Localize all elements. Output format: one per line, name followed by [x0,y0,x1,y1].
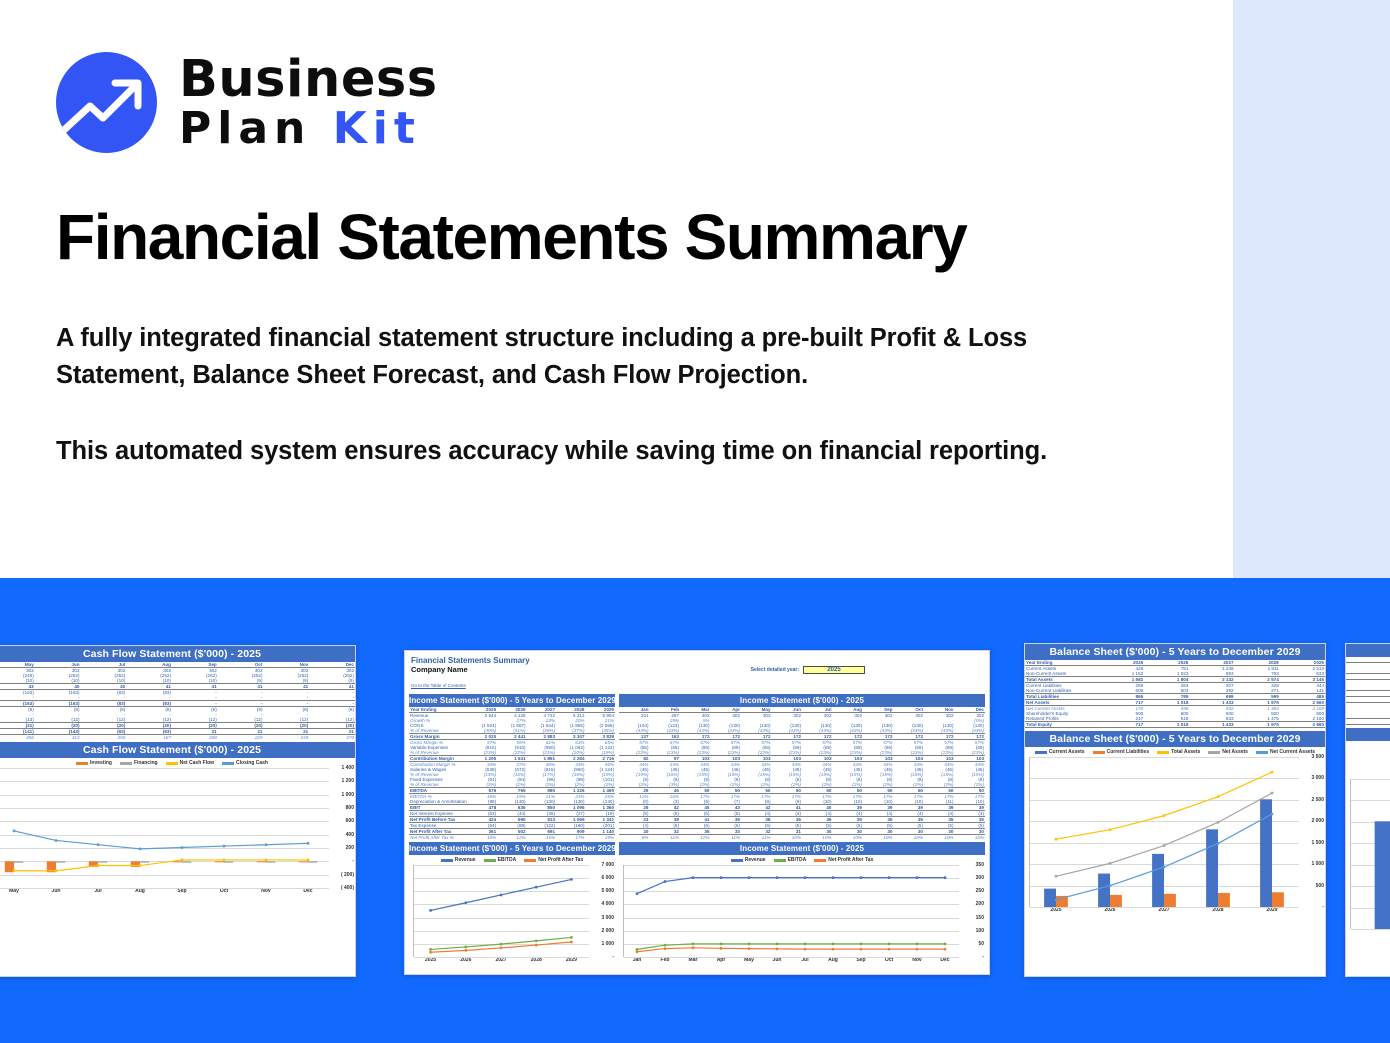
legend-label: Current Liabilities [1107,749,1150,755]
legend-item: Net Cash Flow [166,760,214,766]
legend-label: Total Assets [1171,749,1200,755]
balance-sheet-table-title: Balance Sheet ($'000) - 5 Years to Decem… [1025,644,1325,660]
y-tick-label: - [982,954,984,960]
legend-label: Current Assets [1049,749,1085,755]
chart-arrow-logo-icon [56,52,157,153]
y-tick-label: 3 000 [601,915,614,921]
y-tick-label: 3 500 [1311,754,1324,760]
table-row: Net Profit After Tax %10%12%15%17%19% [409,835,615,841]
y-tick-label: ( 200) [341,872,354,878]
table-cell: 249 [264,735,310,741]
brand-word-kit: Kit [333,103,421,154]
legend-label: Net Assets [1222,749,1248,755]
table-cell: 10% [802,835,833,841]
table-cell: 10% [955,835,986,841]
chart-series-layer [623,865,959,957]
table-cell: 10% [894,835,925,841]
legend-label: Net Profit After Tax [828,857,873,863]
legend-swatch [1157,751,1169,754]
y-tick-label: 250 [976,888,984,894]
balance-sheet-table[interactable]: Year Ending20252026202720282029Current A… [1025,660,1325,728]
chart-legend: RevenueEBITDANet Profit After Tax [619,855,985,865]
y-tick-label: 1 000 [601,941,614,947]
chart-plot-area: 3 5003 0002 5002 0001 5001 000500- [1346,779,1390,929]
balance-sheet-monthly-panel[interactable]: Jan1 1741241 297936927865121 08150012512… [1345,643,1390,977]
chart-series-layer [1350,779,1390,929]
legend-label: EBITDA [788,857,807,863]
table-row: 512 [1346,719,1390,725]
y-tick-label: - [1322,904,1324,910]
legend-item: Net Assets [1208,749,1248,755]
legend-item: Closing Cash [222,760,268,766]
balance-sheet-monthly-chart[interactable]: Current AssetsCurrent LiabilitiesTotal A… [1346,741,1390,935]
legend-label: EBITDA [498,857,517,863]
table-cell: 10% [863,835,894,841]
table-cell: 12% [680,835,711,841]
income-monthly-chart[interactable]: RevenueEBITDANet Profit After Tax3503002… [619,855,985,963]
legend-item: EBITDA [774,857,807,863]
table-cell: 717 [1099,722,1144,728]
y-tick-label: 3 000 [1311,775,1324,781]
income-statement-panel[interactable]: Financial Statements Summary Company Nam… [404,650,990,975]
income-panel-title: Financial Statements Summary [411,656,530,665]
y-tick-label: - [612,954,614,960]
hero-paragraph-1: A fully integrated financial statement s… [56,320,1141,394]
y-tick-label: 200 [976,901,984,907]
chart-y-axis: 1 4001 2001 000800600400200-( 200)( 400) [329,768,355,888]
legend-label: Net Current Assets [1270,749,1315,755]
table-row: 456313250187208229249270 [0,735,355,741]
income-monthly-chart-title: Income Statement ($'000) - 2025 [619,842,985,855]
table-cell: 456 [0,735,35,741]
legend-item: EBITDA [484,857,517,863]
y-tick-label: 5 000 [601,888,614,894]
row-label: Total Equity [1025,722,1099,728]
legend-label: Financing [134,760,158,766]
table-cell: 1 018 [1144,722,1189,728]
income-annual-table[interactable]: Year Ending20252026202720282029Revenue3 … [409,707,615,840]
table-cell: 10% [833,835,864,841]
legend-label: Investing [90,760,112,766]
balance-sheet-panel[interactable]: Balance Sheet ($'000) - 5 Years to Decem… [1024,643,1326,977]
chart-series-layer [413,865,589,957]
y-tick-label: 800 [346,805,354,811]
chart-plot-area: 1 4001 2001 000800600400200-( 200)( 400) [0,768,355,888]
table-cell: 1 975 [1235,722,1280,728]
legend-item: Net Current Assets [1256,749,1315,755]
legend-swatch [524,859,536,862]
table-cell: 229 [218,735,264,741]
legend-swatch [1035,751,1047,754]
table-cell: 11% [711,835,742,841]
y-tick-label: 300 [976,875,984,881]
chart-plot-area: 35030025020015010050- [619,865,985,957]
legend-item: Investing [76,760,112,766]
table-cell: 10% [468,835,497,841]
table-cell: 15% [527,835,556,841]
table-cell: 270 [309,735,355,741]
table-cell: 17% [556,835,585,841]
y-tick-label: 2 500 [1311,797,1324,803]
table-cell: 12% [497,835,526,841]
table-cell: 250 [81,735,127,741]
chart-legend: Current AssetsCurrent LiabilitiesTotal A… [1025,747,1325,757]
table-cell: 187 [126,735,172,741]
legend-label: Revenue [745,857,766,863]
hero-section: Business Plan Kit Financial Statements S… [0,0,1233,578]
table-cell: 512 [1346,719,1390,725]
y-tick-label: 350 [976,862,984,868]
y-tick-label: 1 000 [1311,861,1324,867]
page-title: Financial Statements Summary [56,204,1176,272]
cash-flow-chart[interactable]: InvestingFinancingNet Cash FlowClosing C… [0,758,355,894]
y-tick-label: 7 000 [601,862,614,868]
y-tick-label: 4 000 [601,901,614,907]
y-tick-label: 2 000 [601,928,614,934]
chart-series-layer [1029,757,1299,907]
chart-y-axis: 35030025020015010050- [959,865,985,957]
legend-item: Net Profit After Tax [524,857,583,863]
legend-swatch [774,859,786,862]
y-tick-label: ( 400) [341,885,354,891]
table-row: 8%11%12%11%11%10%10%10%10%10%10%10% [619,835,985,841]
y-tick-label: 2 000 [1311,818,1324,824]
y-tick-label: 1 200 [341,778,354,784]
table-cell: 8% [619,835,650,841]
y-tick-label: 150 [976,915,984,921]
legend-label: Closing Cash [236,760,268,766]
y-tick-label: 600 [346,818,354,824]
legend-swatch [814,859,826,862]
cash-flow-panel[interactable]: Cash Flow Statement ($'000) - 2025 MayJu… [0,645,356,977]
legend-swatch [166,762,178,765]
cash-flow-table[interactable]: MayJunJulAugSepOctNovDec3023023023023023… [0,662,355,740]
y-tick-label: 400 [346,832,354,838]
legend-item: Net Profit After Tax [814,857,873,863]
legend-item: Total Assets [1157,749,1200,755]
legend-label: Net Profit After Tax [538,857,583,863]
income-monthly-table-title: Income Statement ($'000) - 2025 [619,694,985,707]
chart-y-axis: 7 0006 0005 0004 0003 0002 0001 000- [589,865,615,957]
table-cell: 19% [586,835,616,841]
income-panel-company: Company Name [411,665,530,674]
table-cell: 208 [172,735,218,741]
brand-name-line2: Plan Kit [179,107,438,151]
cash-flow-chart-title: Cash Flow Statement ($'000) - 2025 [0,742,355,758]
table-cell: 1 433 [1189,722,1234,728]
y-tick-label: 200 [346,845,354,851]
balance-sheet-monthly-chart-title [1346,728,1390,741]
income-annual-table-title: Income Statement ($'000) - 5 Years to De… [409,694,615,707]
chart-plot-area: 7 0006 0005 0004 0003 0002 0001 000- [409,865,615,957]
table-cell: 2 660 [1280,722,1325,728]
income-annual-chart-title: Income Statement ($'000) - 5 Years to De… [409,842,615,855]
y-tick-label: 1 400 [341,765,354,771]
brand-name-line1: Business [179,54,438,105]
chart-y-axis: 3 5003 0002 5002 0001 5001 000500- [1299,757,1325,907]
income-monthly-table[interactable]: JanFebMarAprMayJunJulAugSepOctNovDec2412… [619,707,985,840]
table-cell: 11% [650,835,681,841]
y-tick-label: 1 500 [1311,840,1324,846]
legend-label: Net Cash Flow [180,760,214,766]
table-cell: 10% [924,835,955,841]
balance-sheet-chart[interactable]: Current AssetsCurrent LiabilitiesTotal A… [1025,747,1325,913]
legend-item: Current Assets [1035,749,1085,755]
legend-item: Revenue [731,857,766,863]
y-tick-label: 50 [978,941,984,947]
y-tick-label: 6 000 [601,875,614,881]
brand-word-plan: Plan [179,103,311,154]
legend-swatch [1256,751,1268,754]
legend-item: Revenue [441,857,476,863]
legend-swatch [120,762,132,765]
select-year-input[interactable]: 2025 [803,666,865,674]
legend-swatch [222,762,234,765]
chart-legend: InvestingFinancingNet Cash FlowClosing C… [0,758,355,768]
hero-sidebar-band [1233,0,1390,578]
legend-swatch [1093,751,1105,754]
legend-swatch [1208,751,1220,754]
select-year-label: Select detailed year: [751,667,799,673]
row-label: Net Profit After Tax % [409,835,468,841]
chart-legend: RevenueEBITDANet Profit After Tax [409,855,615,865]
table-row: Total Equity7171 0181 4331 9752 660 [1025,722,1325,728]
legend-swatch [441,859,453,862]
y-tick-label: 500 [1316,883,1324,889]
table-cell: 10% [772,835,803,841]
brand-logo: Business Plan Kit [56,52,438,153]
y-tick-label: 1 000 [341,792,354,798]
chart-plot-area: 3 5003 0002 5002 0001 5001 000500- [1025,757,1325,907]
balance-sheet-monthly-table[interactable]: Jan1 1741241 297936927865121 08150012512 [1346,657,1390,725]
table-of-contents-link[interactable]: Go to the Table of Contents [411,683,466,688]
legend-swatch [484,859,496,862]
row-label: Depreciation & Amortisation [409,799,468,805]
table-cell: 11% [741,835,772,841]
chart-series-layer [0,768,329,888]
legend-label: Revenue [455,857,476,863]
income-annual-chart[interactable]: RevenueEBITDANet Profit After Tax7 0006 … [409,855,615,963]
table-cell: 313 [35,735,81,741]
legend-swatch [731,859,743,862]
y-tick-label: - [352,858,354,864]
legend-swatch [76,762,88,765]
y-tick-label: 100 [976,928,984,934]
cash-flow-table-title: Cash Flow Statement ($'000) - 2025 [0,646,355,662]
legend-item: Financing [120,760,158,766]
hero-paragraph-2: This automated system ensures accuracy w… [56,433,1141,470]
balance-sheet-monthly-title [1346,644,1390,657]
legend-item: Current Liabilities [1093,749,1150,755]
balance-sheet-chart-title: Balance Sheet ($'000) - 5 Years to Decem… [1025,731,1325,747]
